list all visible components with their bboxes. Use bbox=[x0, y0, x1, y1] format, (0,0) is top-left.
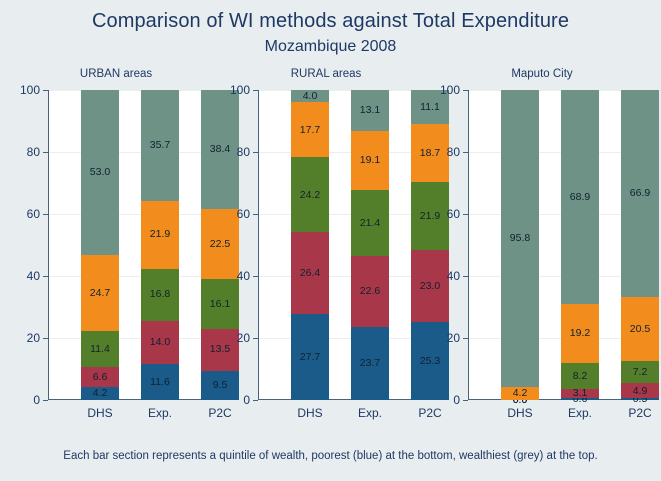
x-axis-tick-label: Exp. bbox=[568, 406, 592, 420]
bar-segment: 0.5 bbox=[621, 398, 659, 400]
chart-root: Comparison of WI methods against Total E… bbox=[0, 0, 661, 481]
y-axis-tick-label: 100 bbox=[20, 83, 40, 97]
bar-segment-value-label: 95.8 bbox=[510, 233, 530, 244]
panel-maputo-city: Maputo City0204060801000.00.00.04.295.8D… bbox=[438, 68, 646, 423]
x-axis-tick-label: Exp. bbox=[358, 406, 382, 420]
bar-segment: 20.5 bbox=[621, 297, 659, 361]
bar-segment-value-label: 14.0 bbox=[150, 337, 170, 348]
y-axis-line bbox=[258, 90, 259, 400]
panel-title: RURAL areas bbox=[228, 68, 424, 80]
panel-rural-areas: RURAL areas02040608010027.726.424.217.74… bbox=[228, 68, 424, 423]
bar-segment-value-label: 4.2 bbox=[513, 388, 528, 399]
bar-exp[interactable]: 11.614.016.821.935.7Exp. bbox=[141, 90, 179, 400]
bar-segment-value-label: 24.2 bbox=[300, 190, 320, 201]
bar-segment: 4.2 bbox=[501, 387, 539, 400]
bar-segment-value-label: 22.6 bbox=[360, 286, 380, 297]
bar-segment-value-label: 21.4 bbox=[360, 218, 380, 229]
bar-segment-value-label: 8.2 bbox=[573, 371, 588, 382]
y-axis-tick-label: 20 bbox=[237, 331, 250, 345]
bar-segment: 95.8 bbox=[501, 90, 539, 387]
bar-segment: 11.4 bbox=[81, 331, 119, 366]
panel-urban-areas: URBAN areas0204060801004.26.611.424.753.… bbox=[18, 68, 214, 423]
bar-segment: 3.1 bbox=[561, 389, 599, 399]
y-axis-tick-label: 60 bbox=[237, 207, 250, 221]
bar-segment-value-label: 26.4 bbox=[300, 268, 320, 279]
page-subtitle: Mozambique 2008 bbox=[0, 38, 661, 56]
bar-segment-value-label: 4.9 bbox=[633, 386, 648, 397]
gridline bbox=[468, 90, 646, 91]
y-axis-tick-label: 40 bbox=[27, 269, 40, 283]
bar-segment: 19.2 bbox=[561, 304, 599, 364]
bar-segment: 21.4 bbox=[351, 190, 389, 256]
bar-segment-value-label: 7.2 bbox=[633, 367, 648, 378]
gridline bbox=[48, 276, 214, 277]
y-axis-tick-label: 100 bbox=[230, 83, 250, 97]
panel-title: Maputo City bbox=[438, 68, 646, 80]
bar-segment-value-label: 11.4 bbox=[90, 344, 110, 355]
gridline bbox=[258, 214, 424, 215]
bar-segment: 53.0 bbox=[81, 90, 119, 254]
bar-segment: 68.9 bbox=[561, 90, 599, 304]
panel-title: URBAN areas bbox=[18, 68, 214, 80]
chart-caption: Each bar section represents a quintile o… bbox=[0, 450, 661, 462]
gridline bbox=[468, 214, 646, 215]
y-axis-tick-label: 40 bbox=[447, 269, 460, 283]
y-axis-tick-label: 80 bbox=[447, 145, 460, 159]
bar-segment-value-label: 11.1 bbox=[420, 102, 440, 113]
bar-segment-value-label: 19.1 bbox=[360, 155, 380, 166]
bar-segment-value-label: 4.2 bbox=[93, 388, 108, 399]
x-axis-tick-label: DHS bbox=[507, 406, 532, 420]
x-axis-tick-label: DHS bbox=[87, 406, 112, 420]
gridline bbox=[258, 152, 424, 153]
y-axis-tick-label: 0 bbox=[453, 393, 460, 407]
bar-segment-value-label: 16.8 bbox=[150, 289, 170, 300]
bar-segment: 4.0 bbox=[291, 90, 329, 102]
bar-segment: 17.7 bbox=[291, 102, 329, 157]
y-axis-tick-label: 80 bbox=[27, 145, 40, 159]
bar-segment: 23.7 bbox=[351, 327, 389, 400]
gridline bbox=[468, 338, 646, 339]
bar-exp[interactable]: 0.63.18.219.268.9Exp. bbox=[561, 90, 599, 400]
gridline bbox=[48, 90, 214, 91]
gridline bbox=[258, 338, 424, 339]
y-axis-tick-label: 20 bbox=[27, 331, 40, 345]
gridline bbox=[468, 276, 646, 277]
x-axis-tick-label: P2C bbox=[628, 406, 651, 420]
x-axis-line bbox=[258, 399, 424, 400]
bar-segment: 13.1 bbox=[351, 90, 389, 131]
y-axis-tick-label: 0 bbox=[243, 393, 250, 407]
x-axis-tick-label: Exp. bbox=[148, 406, 172, 420]
y-axis-tick-label: 80 bbox=[237, 145, 250, 159]
bar-dhs[interactable]: 4.26.611.424.753.0DHS bbox=[81, 90, 119, 400]
bar-segment-value-label: 19.2 bbox=[570, 328, 590, 339]
bar-dhs[interactable]: 27.726.424.217.74.0DHS bbox=[291, 90, 329, 400]
y-axis-tick-label: 60 bbox=[447, 207, 460, 221]
y-axis-line bbox=[468, 90, 469, 400]
gridline bbox=[258, 90, 424, 91]
y-axis-tick bbox=[463, 400, 468, 401]
bar-segment-value-label: 13.1 bbox=[360, 105, 380, 116]
y-axis-tick bbox=[43, 400, 48, 401]
x-axis-line bbox=[48, 399, 214, 400]
gridline bbox=[258, 276, 424, 277]
bar-segment-value-label: 68.9 bbox=[570, 192, 590, 203]
bar-segment-value-label: 11.6 bbox=[150, 377, 170, 388]
bar-segment-value-label: 23.7 bbox=[360, 358, 380, 369]
bar-segment-value-label: 27.7 bbox=[300, 352, 320, 363]
bar-segment-value-label: 35.7 bbox=[150, 140, 170, 151]
gridline bbox=[48, 152, 214, 153]
bar-segment: 21.9 bbox=[141, 201, 179, 269]
bar-segment: 11.6 bbox=[141, 364, 179, 400]
x-axis-line bbox=[468, 399, 646, 400]
gridline bbox=[48, 338, 214, 339]
bar-segment-value-label: 66.9 bbox=[630, 188, 650, 199]
bar-segment-value-label: 21.9 bbox=[150, 229, 170, 240]
bar-segment: 4.2 bbox=[81, 387, 119, 400]
bar-segment-value-label: 9.5 bbox=[213, 380, 228, 391]
y-axis-line bbox=[48, 90, 49, 400]
plot-area: 0204060801004.26.611.424.753.0DHS11.614.… bbox=[48, 90, 214, 400]
plot-area: 02040608010027.726.424.217.74.0DHS23.722… bbox=[258, 90, 424, 400]
bar-segment: 4.9 bbox=[621, 383, 659, 398]
page-title: Comparison of WI methods against Total E… bbox=[0, 10, 661, 33]
bar-segment: 22.6 bbox=[351, 256, 389, 326]
bar-segment: 26.4 bbox=[291, 232, 329, 314]
bar-segment-value-label: 4.0 bbox=[303, 91, 318, 102]
bar-segment: 16.8 bbox=[141, 269, 179, 321]
bar-p2c[interactable]: 0.54.97.220.566.9P2C bbox=[621, 90, 659, 400]
bar-segment-value-label: 53.0 bbox=[90, 167, 110, 178]
x-axis-tick-label: DHS bbox=[297, 406, 322, 420]
y-axis-tick-label: 20 bbox=[447, 331, 460, 345]
bar-segment: 27.7 bbox=[291, 314, 329, 400]
plot-area: 0204060801000.00.00.04.295.8DHS0.63.18.2… bbox=[468, 90, 646, 400]
bar-segment-value-label: 3.1 bbox=[573, 388, 588, 399]
y-axis-tick-label: 60 bbox=[27, 207, 40, 221]
bar-segment: 24.7 bbox=[81, 255, 119, 332]
bar-dhs[interactable]: 0.00.00.04.295.8DHS bbox=[501, 90, 539, 400]
y-axis-tick-label: 40 bbox=[237, 269, 250, 283]
bar-segment: 24.2 bbox=[291, 157, 329, 232]
bar-exp[interactable]: 23.722.621.419.113.1Exp. bbox=[351, 90, 389, 400]
bar-segment: 7.2 bbox=[621, 361, 659, 383]
bar-segment-value-label: 6.6 bbox=[93, 372, 108, 383]
y-axis-tick-label: 0 bbox=[33, 393, 40, 407]
bar-segment-value-label: 24.7 bbox=[90, 288, 110, 299]
bar-segment-value-label: 20.5 bbox=[630, 324, 650, 335]
y-axis-tick bbox=[253, 400, 258, 401]
bar-segment: 14.0 bbox=[141, 321, 179, 364]
gridline bbox=[48, 214, 214, 215]
gridline bbox=[468, 152, 646, 153]
bar-segment: 8.2 bbox=[561, 363, 599, 388]
bar-segment: 66.9 bbox=[621, 90, 659, 297]
bar-segment-value-label: 17.7 bbox=[300, 125, 320, 136]
bar-segment: 35.7 bbox=[141, 90, 179, 201]
bar-segment: 19.1 bbox=[351, 131, 389, 190]
y-axis-tick-label: 100 bbox=[440, 83, 460, 97]
bar-segment: 6.6 bbox=[81, 367, 119, 387]
